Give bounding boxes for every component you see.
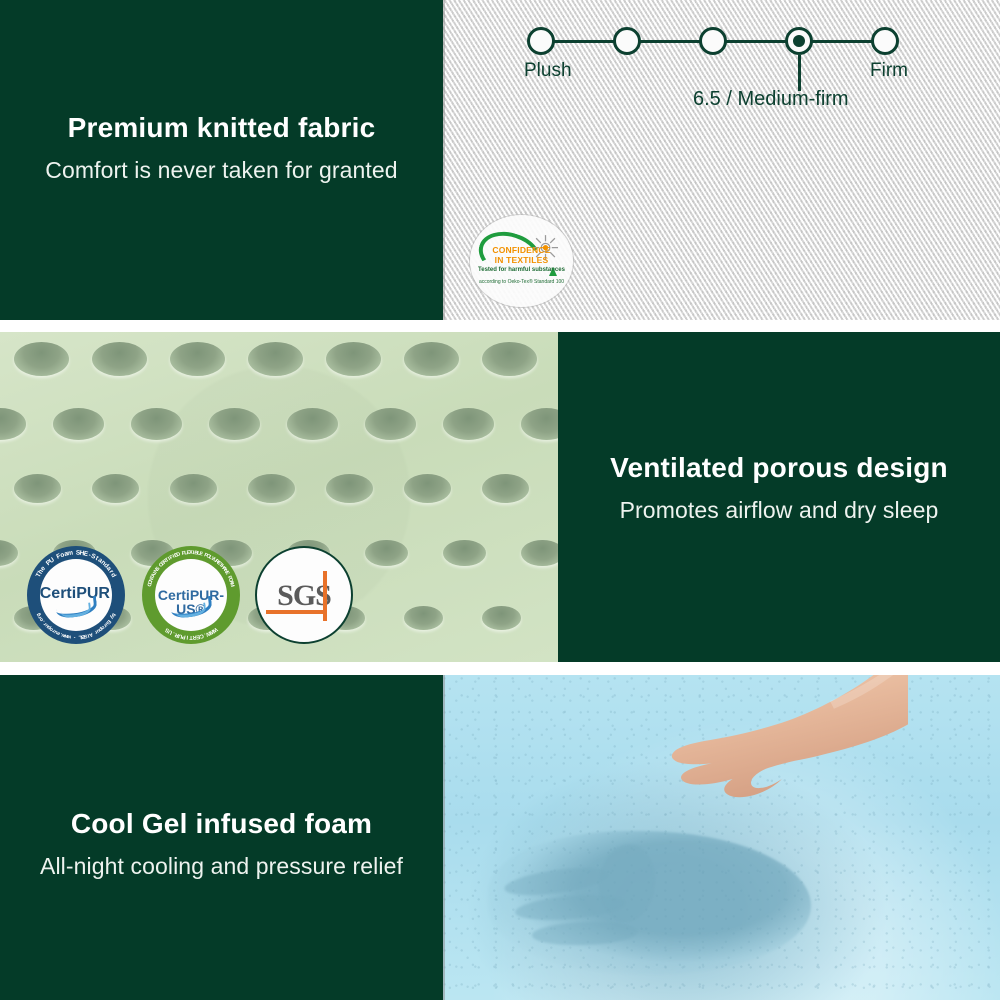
ventilation-hole bbox=[521, 540, 558, 566]
ventilation-hole bbox=[287, 408, 338, 440]
panel-2-text-side: Ventilated porous design Promotes airflo… bbox=[558, 332, 1000, 662]
ventilation-hole bbox=[248, 342, 303, 376]
panel-3-subline: All-night cooling and pressure relief bbox=[0, 853, 443, 881]
panel-ventilated-porous-design: The PU Foam SHE-Standardby Europur AISBL… bbox=[0, 332, 1000, 662]
oeko-tex-badge: CONFIDENCE IN TEXTILES Tested for harmfu… bbox=[470, 215, 573, 307]
panel-1-headline: Premium knitted fabric bbox=[0, 112, 443, 144]
ventilation-hole bbox=[131, 408, 182, 440]
product-infographic: Premium knitted fabric Comfort is never … bbox=[0, 0, 1000, 1000]
firmness-dot-2[interactable] bbox=[613, 27, 641, 55]
firmness-dot-3[interactable] bbox=[699, 27, 727, 55]
ventilation-hole bbox=[521, 408, 558, 440]
oeko-sub-line2: according to Oeko-Tex® Standard 100 bbox=[470, 279, 573, 285]
gel-foam-image bbox=[443, 675, 1000, 1000]
ventilation-hole bbox=[0, 408, 26, 440]
panel-2-headline: Ventilated porous design bbox=[558, 452, 1000, 484]
ventilation-hole bbox=[0, 540, 18, 566]
panel-3-text-side: Cool Gel infused foam All-night cooling … bbox=[0, 675, 443, 1000]
ventilation-hole bbox=[170, 474, 217, 503]
ventilation-hole bbox=[92, 342, 147, 376]
ventilation-hole bbox=[482, 606, 521, 630]
firmness-dot-1[interactable] bbox=[527, 27, 555, 55]
marker-leader-line bbox=[798, 55, 801, 91]
ventilation-hole bbox=[92, 474, 139, 503]
ventilation-hole bbox=[443, 540, 486, 566]
certipur-us-badge-face: CertiPUR-US® bbox=[155, 559, 228, 632]
panel-1-subline: Comfort is never taken for granted bbox=[0, 157, 443, 185]
sgs-vertical-bar-icon bbox=[323, 571, 327, 622]
ventilation-hole bbox=[248, 474, 295, 503]
certipur-badge: The PU Foam SHE-Standardby Europur AISBL… bbox=[27, 546, 125, 644]
sgs-badge: SGS bbox=[255, 546, 353, 644]
ventilation-hole bbox=[14, 342, 69, 376]
knitted-fabric-image: Plush Firm 6.5 / Medium-firm bbox=[443, 0, 1000, 320]
ventilation-hole bbox=[482, 342, 537, 376]
firmness-label-plush: Plush bbox=[524, 60, 572, 82]
ventilation-hole bbox=[326, 342, 381, 376]
ventilation-hole bbox=[365, 540, 408, 566]
ventilation-hole bbox=[326, 474, 373, 503]
certipur-badge-face: CertiPUR™ bbox=[40, 559, 113, 632]
ventilated-foam-image: The PU Foam SHE-Standardby Europur AISBL… bbox=[0, 332, 558, 662]
ventilation-hole bbox=[404, 342, 459, 376]
ventilation-hole bbox=[53, 408, 104, 440]
hand-illustration bbox=[532, 675, 1000, 857]
panel-premium-knitted-fabric: Premium knitted fabric Comfort is never … bbox=[0, 0, 1000, 320]
panel-2-subline: Promotes airflow and dry sleep bbox=[558, 497, 1000, 525]
certipur-swoosh2-icon bbox=[61, 602, 93, 618]
sgs-horizontal-bar-icon bbox=[266, 610, 324, 614]
panel-1-text-side: Premium knitted fabric Comfort is never … bbox=[0, 0, 443, 320]
firmness-label-firm: Firm bbox=[870, 60, 908, 82]
ventilation-hole bbox=[404, 606, 443, 630]
ventilation-hole bbox=[443, 408, 494, 440]
oeko-sub-line1: Tested for harmful substances bbox=[470, 267, 573, 275]
panel-1-divider bbox=[443, 0, 445, 320]
panel-3-divider bbox=[443, 675, 445, 1000]
ventilation-hole bbox=[209, 408, 260, 440]
ventilation-hole bbox=[482, 474, 529, 503]
oeko-title-line2: IN TEXTILES bbox=[495, 255, 549, 265]
sgs-wordmark: SGS bbox=[257, 579, 351, 613]
firmness-marker-label: 6.5 / Medium-firm bbox=[693, 88, 849, 111]
ventilation-hole bbox=[14, 474, 61, 503]
firmness-dot-5[interactable] bbox=[871, 27, 899, 55]
ventilation-hole bbox=[170, 342, 225, 376]
ventilation-hole bbox=[365, 408, 416, 440]
certipur-us-badge: CONTAINS CERTIFIED FLEXIBLE POLYURETHANE… bbox=[142, 546, 240, 644]
ventilation-hole bbox=[404, 474, 451, 503]
panel-cool-gel-infused-foam: Cool Gel infused foam All-night cooling … bbox=[0, 675, 1000, 1000]
firmness-dot-4-active[interactable] bbox=[785, 27, 813, 55]
panel-3-headline: Cool Gel infused foam bbox=[0, 808, 443, 840]
